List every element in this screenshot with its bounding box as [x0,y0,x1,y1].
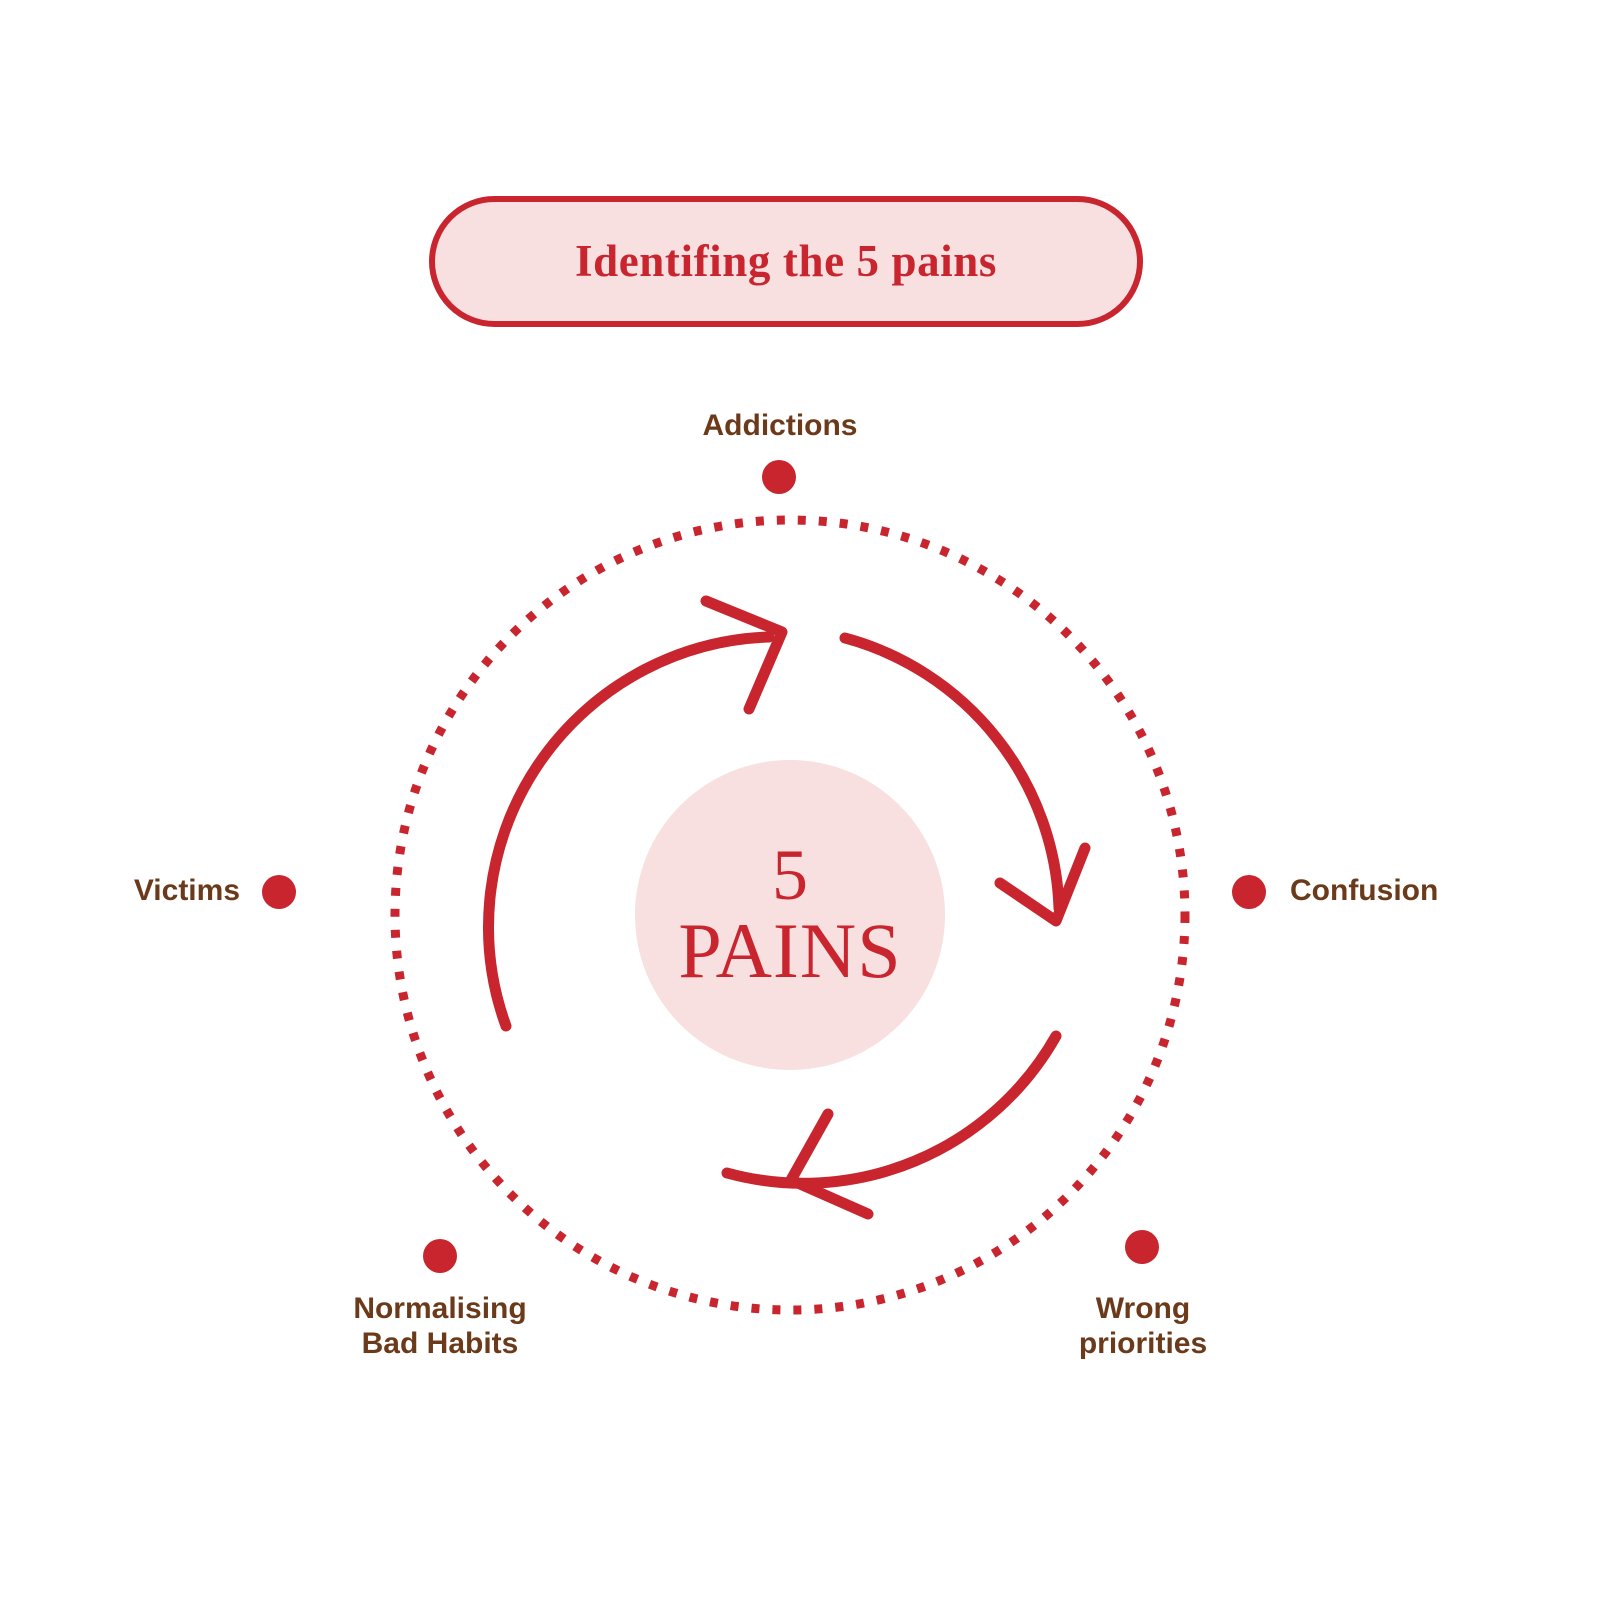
center-circle [635,760,945,1070]
node-label-addictions: Addictions [580,408,980,443]
node-label-confusion: Confusion [1290,873,1600,908]
node-dot-wrong-priorities[interactable] [1125,1230,1159,1264]
node-label-victims: Victims [0,873,240,908]
node-dot-normalising-bad-habits[interactable] [423,1239,457,1273]
node-dot-victims[interactable] [262,875,296,909]
cycle-diagram: 5 PAINS Addictions Confusion Wrong prior… [0,0,1600,1600]
node-label-wrong-priorities: Wrong priorities [943,1291,1343,1362]
node-dot-confusion[interactable] [1232,875,1266,909]
diagram-card: Identifing the 5 pains [0,0,1600,1600]
node-label-normalising-bad-habits: Normalising Bad Habits [240,1291,640,1362]
node-dot-addictions[interactable] [762,460,796,494]
